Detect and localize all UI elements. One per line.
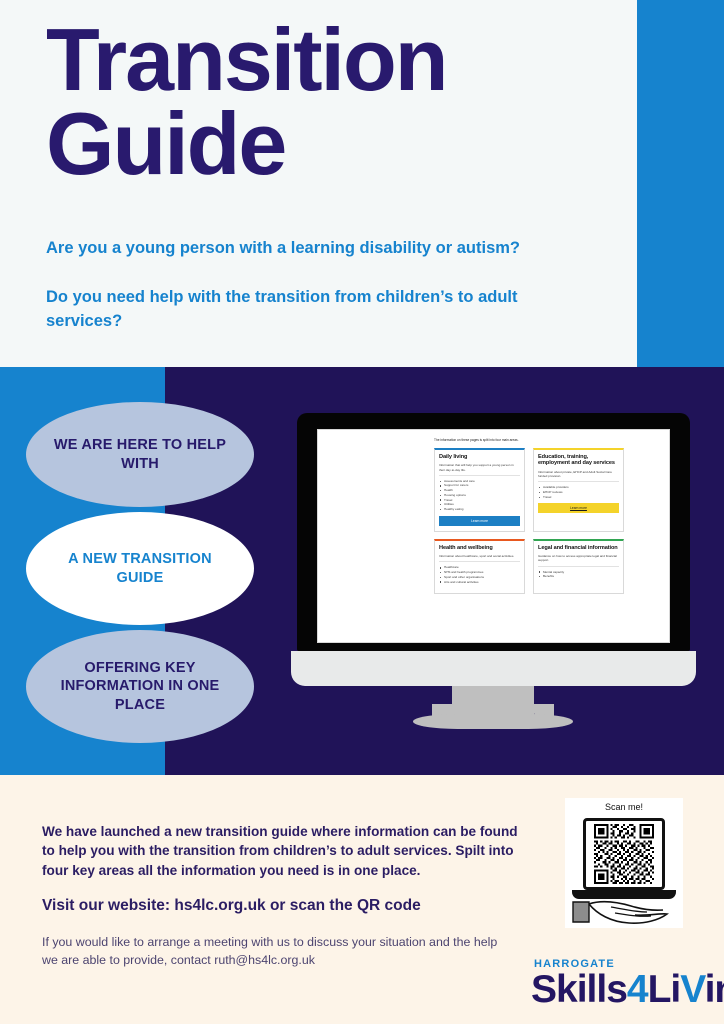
logo-word-li: Li: [648, 968, 681, 1011]
card-title: Education, training, employment and day …: [538, 454, 619, 467]
website-card-education-training[interactable]: Education, training, employment and day …: [533, 448, 624, 532]
card-title: Daily living: [439, 454, 520, 461]
logo-word-ing: ing: [705, 968, 724, 1011]
page-title: Transition Guide: [46, 18, 606, 187]
card-description: Information that will help you support a…: [439, 463, 520, 475]
card-description: Information about healthcare, sport and …: [439, 554, 520, 562]
tablet-illustration: [583, 818, 665, 890]
card-description: Information about private, EHCP and Adul…: [538, 470, 619, 482]
qr-code-panel[interactable]: Scan me!: [565, 798, 683, 928]
header-blue-stripe: [637, 0, 724, 367]
page-title-line2: Guide: [46, 102, 606, 186]
website-card-grid: Daily living Information that will help …: [434, 448, 624, 594]
footer-cta-text: Visit our website: hs4lc.org.uk or scan …: [42, 897, 542, 915]
monitor-chin: [291, 651, 696, 686]
qr-code-icon: [589, 824, 659, 884]
card-topic-list: Assessments and care Support for carers …: [439, 479, 520, 512]
card-title: Legal and financial information: [538, 545, 619, 552]
list-item: Healthy eating: [439, 507, 520, 512]
list-item: Benefits: [538, 574, 619, 579]
footer-note-text: If you would like to arrange a meeting w…: [42, 934, 512, 970]
website-card-legal-financial[interactable]: Legal and financial information Guidance…: [533, 539, 624, 595]
footer-body-text: We have launched a new transition guide …: [42, 822, 520, 880]
bubble-label: WE ARE HERE TO HELP WITH: [52, 436, 228, 472]
website-card-health-wellbeing[interactable]: Health and wellbeing Information about h…: [434, 539, 525, 595]
card-description: Guidance on how to access appropriate le…: [538, 554, 619, 566]
scan-me-label: Scan me!: [565, 802, 683, 812]
poster-root: Transition Guide Are you a young person …: [0, 0, 724, 1024]
hand-icon: [571, 896, 675, 926]
monitor-screen: The information on these pages is split …: [317, 429, 670, 643]
bubble-label: A NEW TRANSITION GUIDE: [52, 550, 228, 586]
monitor-stand-foot: [413, 714, 573, 729]
logo-wordmark: Skills4LiVing: [531, 970, 711, 1009]
list-item: Arts and cultural activities: [439, 580, 520, 585]
bubble-we-are-here-to-help-with: WE ARE HERE TO HELP WITH: [26, 402, 254, 507]
card-title: Health and wellbeing: [439, 545, 520, 552]
header-question-1: Are you a young person with a learning d…: [46, 237, 616, 259]
list-item: Travel: [538, 495, 619, 500]
bubble-label: OFFERING KEY INFORMATION IN ONE PLACE: [52, 659, 228, 713]
logo-word-four: 4: [627, 968, 648, 1011]
logo-word-v-tick: V: [680, 968, 704, 1011]
bubble-a-new-transition-guide: A NEW TRANSITION GUIDE: [26, 512, 254, 625]
website-card-daily-living[interactable]: Daily living Information that will help …: [434, 448, 525, 532]
learn-more-button[interactable]: Learn more: [538, 503, 619, 513]
desktop-monitor-illustration: The information on these pages is split …: [297, 413, 690, 651]
website-intro-text: The information on these pages is split …: [434, 439, 669, 443]
website-preview: The information on these pages is split …: [318, 430, 669, 642]
card-topic-list: Mental capacity Benefits: [538, 570, 619, 579]
logo-word-skills: Skills: [531, 968, 627, 1011]
bubble-offering-key-information: OFFERING KEY INFORMATION IN ONE PLACE: [26, 630, 254, 743]
learn-more-button[interactable]: Learn more: [439, 516, 520, 526]
header-question-2: Do you need help with the transition fro…: [46, 286, 576, 334]
brand-logo: HARROGATE Skills4LiVing: [531, 958, 711, 1010]
card-topic-list: Healthcare NHS and health programmes Spo…: [439, 565, 520, 584]
card-topic-list: Available providers EHCP reviews Travel: [538, 485, 619, 499]
